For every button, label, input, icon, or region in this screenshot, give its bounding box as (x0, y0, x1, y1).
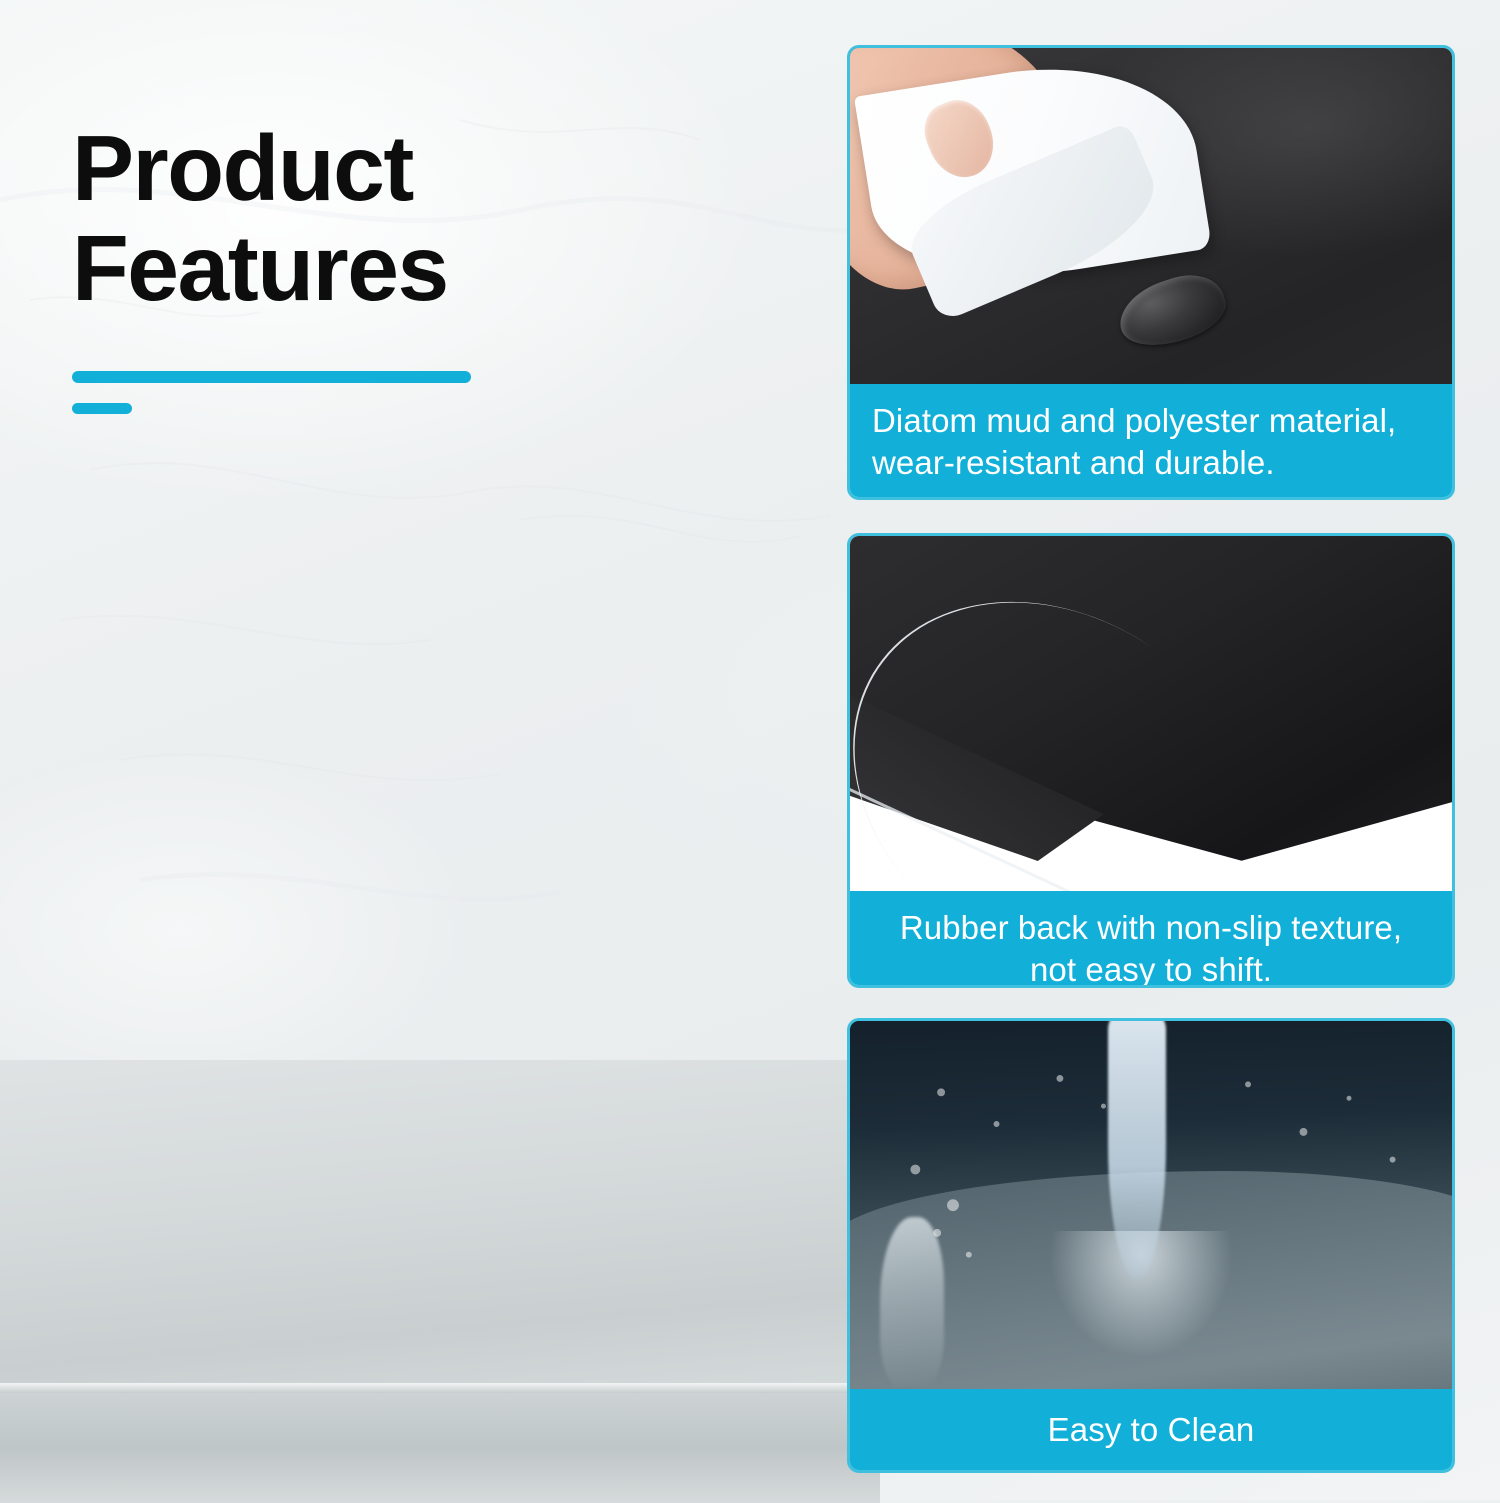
feature-panel-rubber-back: Rubber back with non-slip texture, not e… (847, 533, 1455, 988)
feature-photo-easy-clean (850, 1021, 1452, 1389)
page-title: Product Features (72, 118, 712, 319)
feature-caption-material: Diatom mud and polyester material, wear-… (850, 384, 1452, 500)
countertop-edge (0, 1383, 880, 1393)
countertop-front-face (0, 1393, 880, 1503)
feature-caption-easy-clean: Easy to Clean (850, 1389, 1452, 1473)
title-block: Product Features (72, 118, 712, 319)
title-underline-long-bar (72, 371, 471, 383)
feature-photo-material (850, 48, 1452, 384)
feature-caption-rubber-back: Rubber back with non-slip texture, not e… (850, 891, 1452, 988)
water-droplet-specks (850, 1021, 1452, 1385)
feature-panel-easy-clean: Easy to Clean (847, 1018, 1455, 1473)
feature-photo-rubber-back (850, 536, 1452, 891)
title-underline-short-bar (72, 403, 132, 414)
feature-panel-material: Diatom mud and polyester material, wear-… (847, 45, 1455, 500)
